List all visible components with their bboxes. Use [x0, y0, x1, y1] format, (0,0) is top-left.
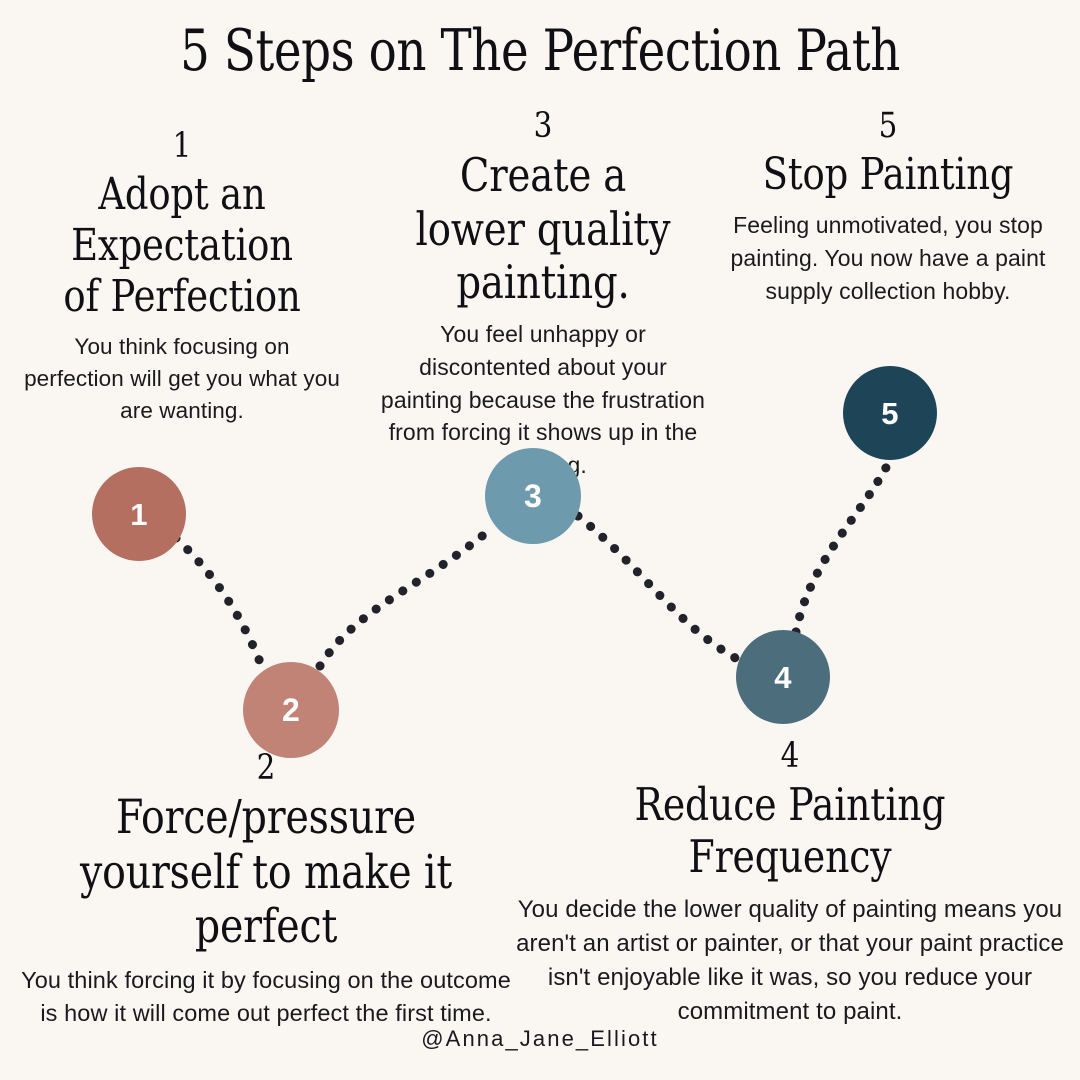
- step-node-3[interactable]: 3: [485, 448, 581, 544]
- step-block-5: 5 Stop Painting Feeling unmotivated, you…: [712, 106, 1064, 307]
- infographic-canvas: 5 Steps on The Perfection Path 1 Adopt a…: [0, 0, 1080, 1080]
- step-block-2: 2 Force/pressure yourself to make it per…: [10, 748, 522, 1031]
- step-body-1: You think focusing on perfection will ge…: [24, 331, 340, 427]
- step-node-5[interactable]: 5: [843, 366, 937, 460]
- step-number-4: 4: [556, 736, 1023, 777]
- step-block-3: 3 Create a lower quality painting. You f…: [378, 106, 708, 482]
- step-node-4[interactable]: 4: [736, 630, 830, 724]
- step-heading-2: Force/pressure yourself to make it perfe…: [51, 791, 481, 955]
- step-heading-5: Stop Painting: [740, 149, 1036, 200]
- step-number-3: 3: [404, 106, 681, 147]
- step-block-1: 1 Adopt an Expectation of Perfection You…: [24, 126, 340, 427]
- step-heading-1: Adopt an Expectation of Perfection: [49, 169, 314, 322]
- step-number-1: 1: [49, 126, 314, 167]
- step-body-2: You think forcing it by focusing on the …: [10, 964, 522, 1031]
- step-node-label-2: 2: [282, 694, 300, 726]
- step-body-4: You decide the lower quality of painting…: [512, 893, 1068, 1029]
- step-node-label-4: 4: [774, 662, 792, 693]
- step-node-label-5: 5: [881, 398, 899, 429]
- author-handle: @Anna_Jane_Elliott: [0, 1026, 1080, 1052]
- step-node-label-3: 3: [524, 480, 542, 512]
- step-number-5: 5: [740, 106, 1036, 147]
- step-heading-3: Create a lower quality painting.: [404, 149, 681, 309]
- step-body-5: Feeling unmotivated, you stop painting. …: [712, 209, 1064, 307]
- step-number-2: 2: [51, 748, 481, 789]
- step-node-1[interactable]: 1: [92, 467, 186, 561]
- step-block-4: 4 Reduce Painting Frequency You decide t…: [512, 736, 1068, 1029]
- step-heading-4: Reduce Painting Frequency: [556, 779, 1023, 883]
- step-node-label-1: 1: [130, 499, 148, 530]
- step-node-2[interactable]: 2: [243, 662, 339, 758]
